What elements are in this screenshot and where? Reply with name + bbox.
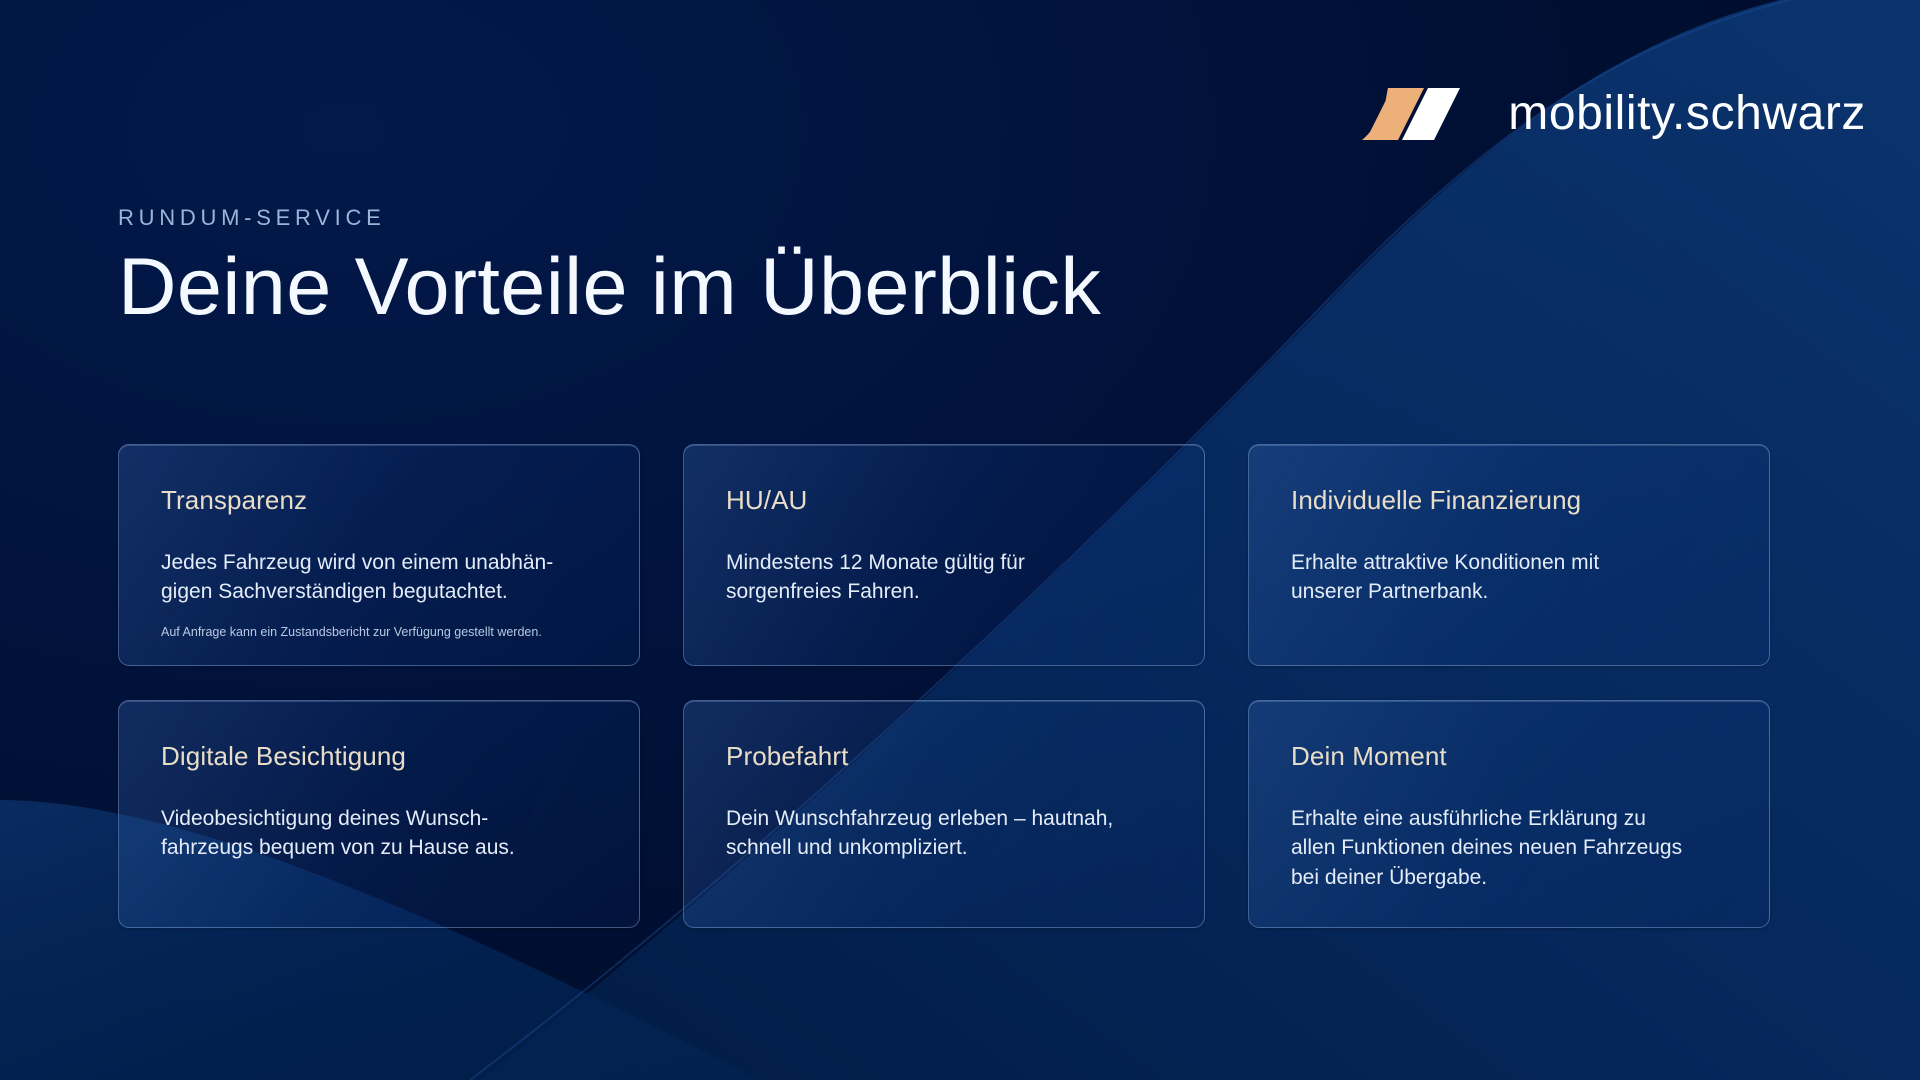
card-title: Digitale Besichtigung	[161, 742, 597, 771]
header-block: RUNDUM-SERVICE Deine Vorteile im Überbli…	[118, 205, 1101, 329]
benefit-card-digitale-besichtigung[interactable]: Digitale Besichtigung Videobesichtigung …	[118, 700, 640, 928]
slide-canvas: mobility.schwarz RUNDUM-SERVICE Deine Vo…	[0, 0, 1920, 1080]
card-footnote: Auf Anfrage kann ein Zustandsbericht zur…	[161, 624, 597, 641]
card-body: Erhalte eine ausführliche Erklärung zu a…	[1291, 804, 1727, 893]
card-title: Transparenz	[161, 486, 597, 515]
card-title: Probefahrt	[726, 742, 1162, 771]
benefit-card-individuelle-finanzierung[interactable]: Individuelle Finanzierung Erhalte attrak…	[1248, 444, 1770, 666]
card-body: Dein Wunschfahrzeug erleben – hautnah, s…	[726, 804, 1162, 864]
benefits-card-grid: Transparenz Jedes Fahrzeug wird von eine…	[118, 444, 1770, 928]
card-body: Erhalte attraktive Konditionen mit unser…	[1291, 548, 1727, 608]
brand-wordmark: mobility.schwarz	[1508, 90, 1866, 138]
mobility-schwarz-logo-icon	[1362, 86, 1476, 142]
card-body: Jedes Fahrzeug wird von einem unabhän- g…	[161, 548, 597, 608]
brand-logo[interactable]: mobility.schwarz	[1362, 86, 1866, 142]
benefit-card-probefahrt[interactable]: Probefahrt Dein Wunschfahrzeug erleben –…	[683, 700, 1205, 928]
card-body: Mindestens 12 Monate gültig für sorgenfr…	[726, 548, 1162, 608]
card-title: Individuelle Finanzierung	[1291, 486, 1727, 515]
card-title: HU/AU	[726, 486, 1162, 515]
card-body: Videobesichtigung deines Wunsch- fahrzeu…	[161, 804, 597, 864]
benefit-card-hu-au[interactable]: HU/AU Mindestens 12 Monate gültig für so…	[683, 444, 1205, 666]
eyebrow-label: RUNDUM-SERVICE	[118, 205, 1101, 231]
benefit-card-transparenz[interactable]: Transparenz Jedes Fahrzeug wird von eine…	[118, 444, 640, 666]
card-title: Dein Moment	[1291, 742, 1727, 771]
page-title: Deine Vorteile im Überblick	[118, 245, 1101, 329]
benefit-card-dein-moment[interactable]: Dein Moment Erhalte eine ausführliche Er…	[1248, 700, 1770, 928]
